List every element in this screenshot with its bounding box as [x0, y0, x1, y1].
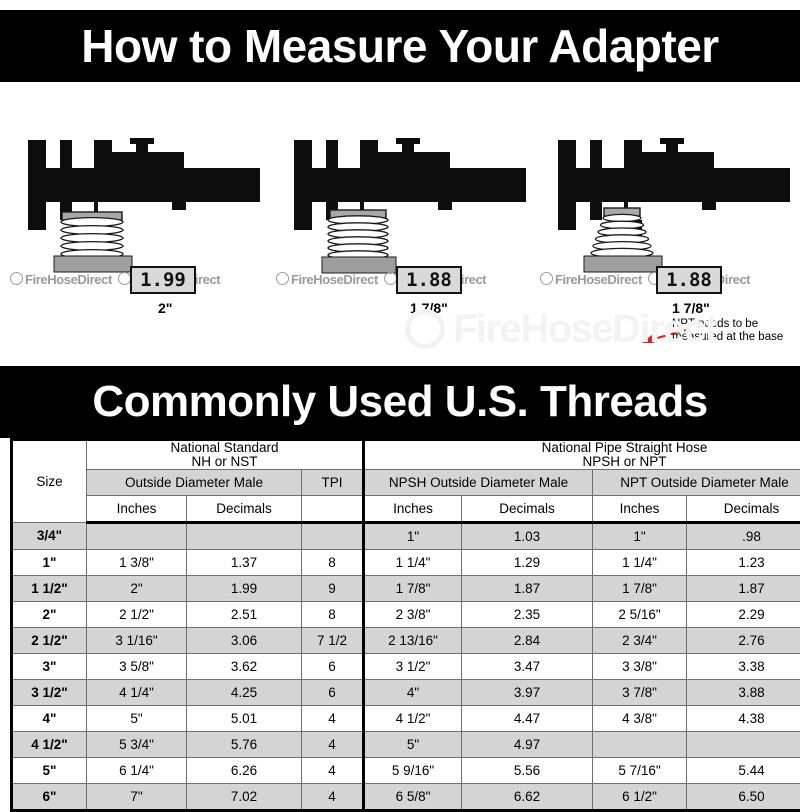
cell-npsh-decimals: 4.47 [462, 706, 593, 732]
cell-npt-decimals: 1.23 [687, 550, 800, 576]
caliper-svg-3 [532, 100, 798, 280]
table-row: 5"6 1/4"6.2645 9/16"5.565 7/16"5.448 [12, 758, 800, 784]
th-npsh-decimals: Decimals [462, 496, 593, 523]
cell-npt-decimals: 6.50 [687, 784, 800, 811]
cell-nh-decimals: 3.06 [187, 628, 302, 654]
cell-nh-tpi: 6 [302, 680, 364, 706]
cell-nh-decimals: 4.25 [187, 680, 302, 706]
cell-nh-tpi: 4 [302, 706, 364, 732]
diagram-npsh: FireHoseDirect FireHoseDirect 1.88 1 7/8… [268, 100, 534, 360]
cell-npsh-inches: 1 1/4" [364, 550, 462, 576]
cell-npt-inches: 6 1/2" [593, 784, 687, 811]
cell-npt-inches: 1 7/8" [593, 576, 687, 602]
cell-nh-tpi: 8 [302, 550, 364, 576]
cell-npsh-decimals: 3.97 [462, 680, 593, 706]
th-group-np-line1: National Pipe Straight Hose [365, 441, 800, 455]
cell-nh-tpi: 4 [302, 784, 364, 811]
cell-nh-decimals: 2.51 [187, 602, 302, 628]
cell-size: 3 1/2" [12, 680, 87, 706]
cell-npsh-decimals: 1.29 [462, 550, 593, 576]
th-npsh-outside-diameter-male: NPSH Outside Diameter Male [364, 470, 593, 496]
cell-npt-decimals: .98 [687, 523, 800, 550]
diagram-nh-nst: FireHoseDirect FireHoseDirect 1.99 2" 1 … [2, 100, 268, 360]
page-title-banner: How to Measure Your Adapter [0, 10, 800, 82]
table-row: 1 1/2"2"1.9991 7/8"1.871 7/8"1.8711 1/2 [12, 576, 800, 602]
cell-nh-inches: 2 1/2" [87, 602, 187, 628]
threads-table: Size National Standard NH or NST Nationa… [10, 438, 800, 812]
cell-npsh-decimals: 2.84 [462, 628, 593, 654]
cell-npsh-inches: 4" [364, 680, 462, 706]
th-nh-outside-diameter-male: Outside Diameter Male [87, 470, 302, 496]
th-group-ns-line1: National Standard [87, 441, 362, 455]
table-header-row-units: Inches Decimals Inches Decimals Inches D… [12, 496, 800, 523]
cell-npsh-inches: 2 3/8" [364, 602, 462, 628]
cell-npt-inches: 3 3/8" [593, 654, 687, 680]
cell-nh-decimals [187, 523, 302, 550]
table-row: 1"1 3/8"1.3781 1/4"1.291 1/4"1.2311 1/2 [12, 550, 800, 576]
cell-npsh-decimals: 4.97 [462, 732, 593, 758]
cell-npt-inches: 1 1/4" [593, 550, 687, 576]
caliper-svg-2 [268, 100, 534, 280]
cell-nh-decimals: 5.01 [187, 706, 302, 732]
measurement-label-1: 2" [158, 300, 172, 316]
cell-npsh-inches: 3 1/2" [364, 654, 462, 680]
cell-size: 2" [12, 602, 87, 628]
cell-npsh-decimals: 5.56 [462, 758, 593, 784]
caliper-illustration-3: FireHoseDirect FireHoseDirect 1.88 [532, 100, 798, 280]
cell-nh-tpi: 4 [302, 732, 364, 758]
th-group-np-line2: NPSH or NPT [365, 455, 800, 469]
cell-nh-tpi: 4 [302, 758, 364, 784]
cell-npsh-decimals: 1.87 [462, 576, 593, 602]
th-nh-inches: Inches [87, 496, 187, 523]
cell-nh-decimals: 1.99 [187, 576, 302, 602]
cell-npsh-inches: 1" [364, 523, 462, 550]
th-npt-outside-diameter-male: NPT Outside Diameter Male [593, 470, 800, 496]
threads-table-body: 3/4"1"1.031".98141"1 3/8"1.3781 1/4"1.29… [12, 523, 800, 811]
th-npt-decimals: Decimals [687, 496, 800, 523]
cell-npt-decimals: 1.87 [687, 576, 800, 602]
measurement-label-2: 1 7/8" [410, 300, 448, 316]
table-row: 3"3 5/8"3.6263 1/2"3.473 3/8"3.388 [12, 654, 800, 680]
cell-nh-inches: 7" [87, 784, 187, 811]
cell-nh-tpi: 8 [302, 602, 364, 628]
cell-size: 1 1/2" [12, 576, 87, 602]
cell-size: 3/4" [12, 523, 87, 550]
cell-nh-tpi: 7 1/2 [302, 628, 364, 654]
cell-npt-inches: 4 3/8" [593, 706, 687, 732]
cell-npsh-inches: 1 7/8" [364, 576, 462, 602]
cell-nh-inches: 2" [87, 576, 187, 602]
th-group-national-standard: National Standard NH or NST [87, 440, 364, 470]
cell-npt-decimals: 4.38 [687, 706, 800, 732]
cell-npsh-decimals: 6.62 [462, 784, 593, 811]
cell-size: 6" [12, 784, 87, 811]
cell-npt-inches: 3 7/8" [593, 680, 687, 706]
caliper-illustration-2: FireHoseDirect FireHoseDirect 1.88 [268, 100, 534, 280]
cell-npsh-inches: 6 5/8" [364, 784, 462, 811]
cell-nh-decimals: 6.26 [187, 758, 302, 784]
cell-npt-decimals: 2.29 [687, 602, 800, 628]
threads-title-banner: Commonly Used U.S. Threads [0, 366, 800, 438]
cell-npsh-inches: 5" [364, 732, 462, 758]
cell-npsh-inches: 4 1/2" [364, 706, 462, 732]
table-header-row-groups: Size National Standard NH or NST Nationa… [12, 440, 800, 470]
caliper-lcd-reading-3: 1.88 [656, 266, 722, 294]
cell-nh-decimals: 5.76 [187, 732, 302, 758]
threads-title: Commonly Used U.S. Threads [92, 377, 707, 427]
cell-nh-inches: 3 1/16" [87, 628, 187, 654]
cell-size: 3" [12, 654, 87, 680]
cell-size: 2 1/2" [12, 628, 87, 654]
npt-note: NPT needs to be measured at the base [672, 318, 783, 344]
cell-npsh-decimals: 2.35 [462, 602, 593, 628]
cell-npt-decimals [687, 732, 800, 758]
th-npt-inches: Inches [593, 496, 687, 523]
cell-nh-inches: 5 3/4" [87, 732, 187, 758]
cell-nh-tpi: 9 [302, 576, 364, 602]
cell-npt-inches: 1" [593, 523, 687, 550]
table-row: 2 1/2"3 1/16"3.067 1/22 13/16"2.842 3/4"… [12, 628, 800, 654]
cell-size: 1" [12, 550, 87, 576]
cell-npsh-inches: 2 13/16" [364, 628, 462, 654]
caliper-lcd-reading-2: 1.88 [396, 266, 462, 294]
table-row: 4"5"5.0144 1/2"4.474 3/8"4.388 [12, 706, 800, 732]
infographic-page: How to Measure Your Adapter [0, 0, 800, 800]
caliper-diagrams-section: FireHoseDirect FireHoseDirect 1.99 2" 1 … [0, 100, 800, 360]
threads-table-wrap: Size National Standard NH or NST Nationa… [10, 438, 790, 812]
cell-nh-inches: 1 3/8" [87, 550, 187, 576]
cell-npsh-decimals: 1.03 [462, 523, 593, 550]
table-row: 6"7"7.0246 5/8"6.626 1/2"6.508 [12, 784, 800, 811]
diagram-npt: FireHoseDirect FireHoseDirect 1.88 1 7/8… [532, 100, 798, 360]
cell-nh-inches: 4 1/4" [87, 680, 187, 706]
cell-npt-inches [593, 732, 687, 758]
cell-size: 4 1/2" [12, 732, 87, 758]
caliper-illustration-1: FireHoseDirect FireHoseDirect 1.99 [2, 100, 268, 280]
cell-npt-inches: 2 5/16" [593, 602, 687, 628]
cell-npt-decimals: 3.88 [687, 680, 800, 706]
th-group-ns-line2: NH or NST [87, 455, 362, 469]
th-npsh-inches: Inches [364, 496, 462, 523]
cell-npsh-decimals: 3.47 [462, 654, 593, 680]
caliper-svg-1 [2, 100, 268, 280]
cell-npt-inches: 2 3/4" [593, 628, 687, 654]
table-row: 3/4"1"1.031".9814 [12, 523, 800, 550]
cell-npt-decimals: 2.76 [687, 628, 800, 654]
cell-nh-inches: 6 1/4" [87, 758, 187, 784]
table-header-row-subgroups: Outside Diameter Male TPI NPSH Outside D… [12, 470, 800, 496]
cell-nh-tpi: 6 [302, 654, 364, 680]
table-row: 4 1/2"5 3/4"5.7645"4.978 [12, 732, 800, 758]
cell-size: 4" [12, 706, 87, 732]
cell-nh-decimals: 1.37 [187, 550, 302, 576]
cell-nh-tpi [302, 523, 364, 550]
cell-npt-decimals: 5.44 [687, 758, 800, 784]
th-nh-tpi: TPI [302, 470, 364, 496]
cell-nh-decimals: 7.02 [187, 784, 302, 811]
npt-note-line-2: measured at the base [672, 331, 783, 344]
npt-note-line-1: NPT needs to be [672, 318, 783, 331]
th-nh-tpi-blank [302, 496, 364, 523]
measurement-label-3: 1 7/8" [672, 300, 710, 316]
th-group-national-pipe-straight-hose: National Pipe Straight Hose NPSH or NPT [364, 440, 800, 470]
cell-npt-decimals: 3.38 [687, 654, 800, 680]
cell-nh-inches [87, 523, 187, 550]
cell-nh-inches: 3 5/8" [87, 654, 187, 680]
cell-nh-decimals: 3.62 [187, 654, 302, 680]
cell-size: 5" [12, 758, 87, 784]
cell-npt-inches: 5 7/16" [593, 758, 687, 784]
cell-nh-inches: 5" [87, 706, 187, 732]
cell-npsh-inches: 5 9/16" [364, 758, 462, 784]
table-row: 3 1/2"4 1/4"4.2564"3.973 7/8"3.888 [12, 680, 800, 706]
caliper-lcd-reading-1: 1.99 [130, 266, 196, 294]
page-title: How to Measure Your Adapter [81, 19, 718, 73]
th-size: Size [12, 440, 87, 523]
table-row: 2"2 1/2"2.5182 3/8"2.352 5/16"2.2911 1/2 [12, 602, 800, 628]
th-nh-decimals: Decimals [187, 496, 302, 523]
